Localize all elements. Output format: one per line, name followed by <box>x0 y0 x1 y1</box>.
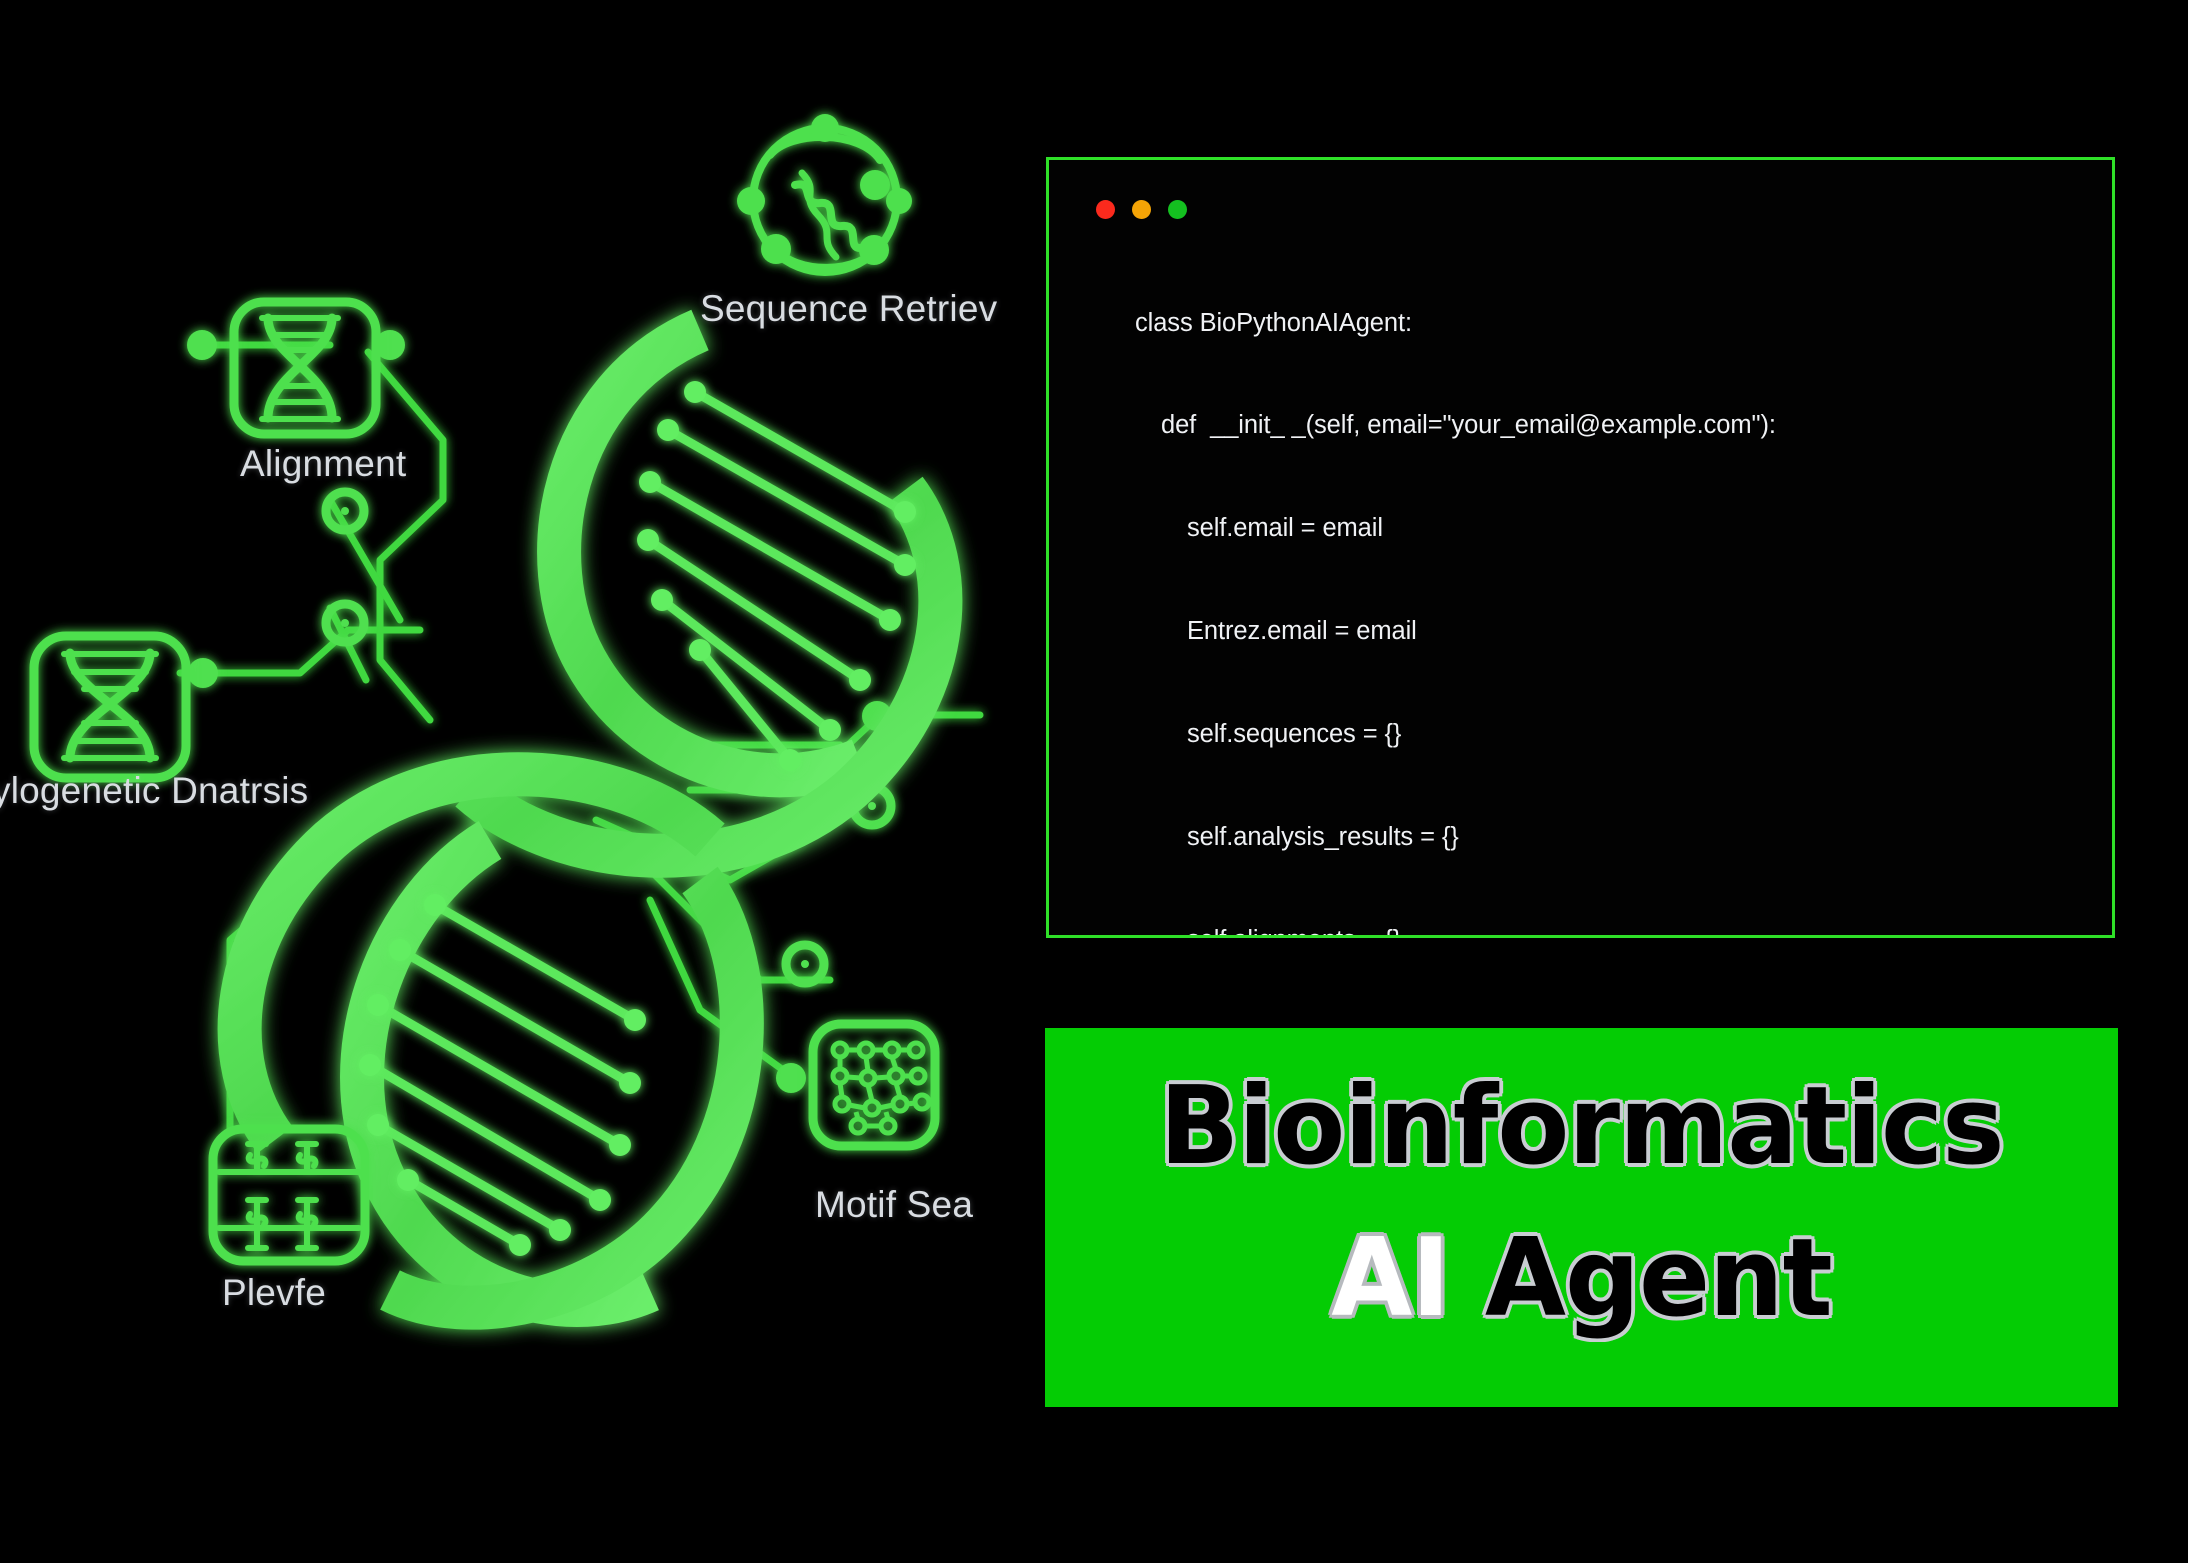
banner-title-line-2: AI Agent <box>1061 1225 2102 1333</box>
alignment-icon[interactable] <box>234 302 376 434</box>
code-line: Entrez.email = email <box>1095 614 2102 648</box>
banner-title-line-1: Bioinformatics <box>1061 1073 2102 1181</box>
maximize-dot[interactable] <box>1168 200 1187 219</box>
circuit-pad <box>187 330 217 360</box>
screenshot-canvas: Sequence Retriev Alignment ylogenetic Dn… <box>0 0 2188 1563</box>
code-line: self.alignments = {} <box>1095 923 2102 938</box>
window-traffic-lights <box>1096 200 1187 219</box>
minimize-dot[interactable] <box>1132 200 1151 219</box>
banner-space <box>1449 1216 1485 1341</box>
banner-word-agent: Agent <box>1485 1216 1832 1341</box>
close-dot[interactable] <box>1096 200 1115 219</box>
alignment-label: Alignment <box>240 443 406 485</box>
code-editor-window[interactable]: class BioPythonAIAgent: def __init_ _(se… <box>1046 157 2115 938</box>
plevfe-label: Plevfe <box>222 1272 326 1314</box>
phylogenetic-analysis-icon[interactable] <box>34 636 186 778</box>
banner-word-ai: AI <box>1331 1216 1449 1341</box>
circuit-pad <box>188 658 218 688</box>
circuit-pad <box>776 1063 806 1093</box>
code-line: class BioPythonAIAgent: <box>1095 306 2102 340</box>
code-line: self.analysis_results = {} <box>1095 820 2102 854</box>
motif-search-label: Motif Sea <box>815 1184 973 1226</box>
dna-circuit-graphic: Sequence Retriev Alignment ylogenetic Dn… <box>0 0 1045 1563</box>
code-line: self.email = email <box>1095 511 2102 545</box>
code-line: self.sequences = {} <box>1095 717 2102 751</box>
motif-search-icon[interactable] <box>813 1024 935 1146</box>
code-line: def __init_ _(self, email="your_email@ex… <box>1095 408 2102 442</box>
plevfe-icon[interactable] <box>213 1129 365 1261</box>
sequence-retrieval-label: Sequence Retriev <box>700 288 997 330</box>
dna-base-pairs-upper <box>648 392 905 760</box>
code-content[interactable]: class BioPythonAIAgent: def __init_ _(se… <box>1095 237 2102 938</box>
sequence-retrieval-icon[interactable] <box>737 114 912 272</box>
title-banner: Bioinformatics AI Agent <box>1045 1028 2118 1407</box>
phylogenetic-analysis-label: ylogenetic Dnatrsis <box>0 770 308 812</box>
